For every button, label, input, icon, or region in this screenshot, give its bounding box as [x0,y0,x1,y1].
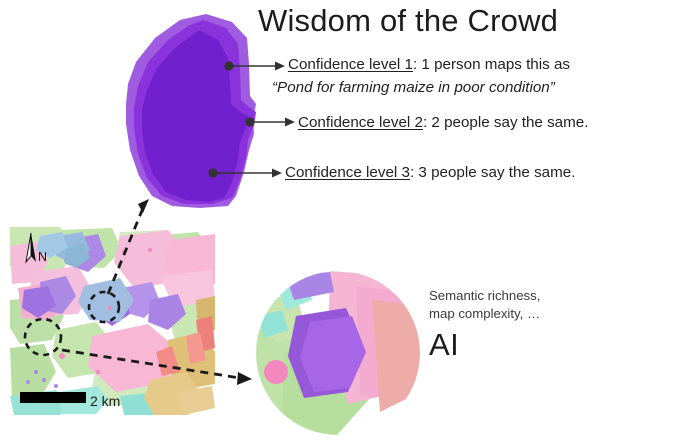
annotation-2-rest: : 2 people say the same. [423,114,588,131]
annotation-1-quote-text: “Pond for farming maize in poor conditio… [272,79,555,96]
map-scale-label: 2 km [90,393,120,409]
ai-caption-line-2: map complexity, … [429,305,540,323]
annotation-line-1: Confidence level 1: 1 person maps this a… [288,54,570,76]
annotation-3-rest: : 3 people say the same. [410,164,575,181]
scale-bar [20,392,86,403]
page-title: Wisdom of the Crowd [258,3,658,39]
north-arrow-label: N [38,250,47,264]
ai-label: AI [429,327,459,363]
annotation-1-lead: Confidence level 1 [288,56,413,73]
annotation-line-2: Confidence level 2: 2 people say the sam… [298,112,588,134]
leader-line-2 [245,117,295,126]
annotation-line-3: Confidence level 3: 3 people say the sam… [285,162,575,184]
annotation-2-lead: Confidence level 2 [298,114,423,131]
ai-caption: Semantic richness, map complexity, … [429,287,540,323]
confidence-polygon-group [126,14,256,208]
ai-caption-line-1: Semantic richness, [429,287,540,305]
annotation-1-rest: : 1 person maps this as [413,56,570,73]
ai-circle-graphic [256,271,420,436]
annotation-line-1-quote: “Pond for farming maize in poor conditio… [272,77,555,99]
annotation-3-lead: Confidence level 3 [285,164,410,181]
